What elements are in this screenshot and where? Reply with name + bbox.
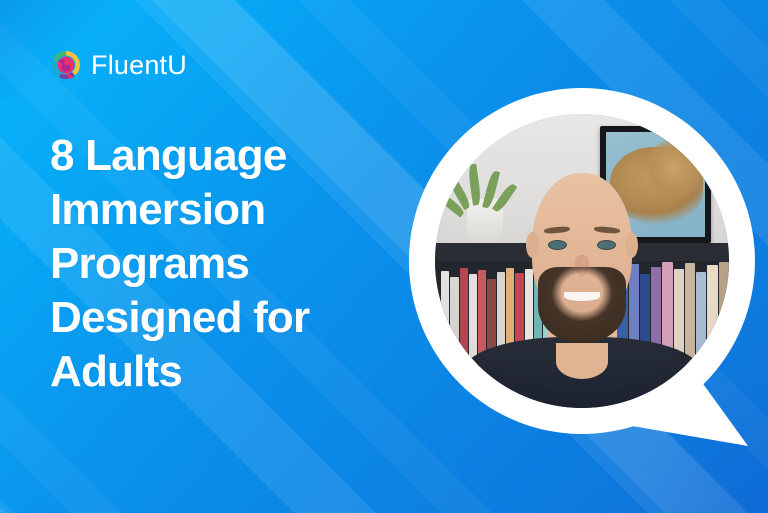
headline-line-4: Designed for [50,291,430,345]
page-title: 8 Language Immersion Programs Designed f… [50,129,430,399]
photo-vignette [435,114,729,408]
headline-line-1: 8 Language [50,129,430,183]
headline-line-5: Adults [50,345,430,399]
fluentu-blog-banner: FluentU 8 Language Immersion Programs De… [0,0,768,513]
speech-bubble-portrait [396,74,768,454]
fluentu-globe-logo-icon [50,49,82,82]
headline-line-3: Programs [50,237,430,291]
brand-logo[interactable]: FluentU [50,49,187,82]
brand-wordmark: FluentU [91,52,187,79]
portrait-photo [435,114,729,408]
headline-line-2: Immersion [50,183,430,237]
